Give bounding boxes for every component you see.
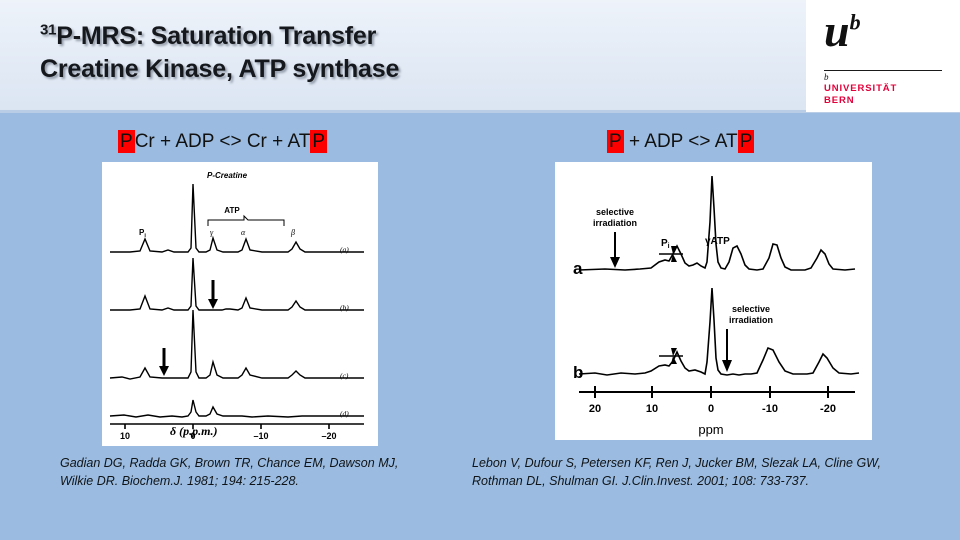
trace-label-c: (c) — [340, 371, 349, 380]
title-line-2: Creatine Kinase, ATP synthase — [40, 55, 399, 83]
equation-creatine-kinase: PCr + ADP <> Cr + ATP — [118, 131, 327, 153]
figure-creatine-kinase-spectra: P-Creatine Pi ATP γ α β (a) (b) (c) — [102, 162, 378, 446]
logo-wordmark-line1: UNIVERSITÄT — [824, 83, 897, 94]
equation-left-highlight-end: P — [310, 130, 327, 153]
figure-atp-synthase-spectra: a selective irradiation Pi γATP b select… — [555, 162, 872, 440]
left-axis: 10 0 –10 –20 — [110, 424, 364, 441]
equation-left-highlight-start: P — [118, 130, 135, 153]
trace-a — [110, 184, 364, 252]
trace-label-d: (d) — [340, 409, 349, 418]
label-pi-right-a: Pi — [661, 238, 670, 250]
annotation-selective-irradiation-a-line2: irradiation — [593, 218, 637, 228]
equation-atp-synthase: P + ADP <> ATP — [607, 131, 754, 153]
equation-left-middle: Cr + ADP <> Cr + AT — [135, 131, 311, 152]
axis-tick-minus10-right: -10 — [762, 403, 778, 415]
axis-tick-20-right: 20 — [589, 403, 601, 415]
trace-label-a: (a) — [340, 245, 349, 254]
right-spectra-svg: a selective irradiation Pi γATP b select… — [555, 162, 872, 440]
logo-wordmark: UNIVERSITÄT BERN — [824, 83, 897, 107]
annotation-selective-irradiation-a-line1: selective — [596, 207, 634, 217]
citation-left: Gadian DG, Radda GK, Brown TR, Chance EM… — [60, 455, 430, 491]
equation-right-highlight-end: P — [738, 130, 755, 153]
logo-rule — [824, 70, 942, 71]
annotation-selective-irradiation-b-line1: selective — [732, 304, 770, 314]
axis-tick-minus20: –20 — [321, 431, 336, 441]
logo-b-superscript: b — [850, 10, 861, 35]
trace-b — [110, 258, 364, 310]
citation-right: Lebon V, Dufour S, Petersen KF, Ren J, J… — [472, 455, 912, 491]
axis-tick-minus10: –10 — [253, 431, 268, 441]
atp-bracket: ATP — [208, 206, 284, 226]
right-axis: 20 10 0 -10 -20 ppm — [579, 386, 855, 437]
arrow-selective-irradiation-b — [722, 329, 732, 372]
axis-tick-minus20-right: -20 — [820, 403, 836, 415]
axis-tick-0-right: 0 — [708, 403, 714, 415]
axis-tick-10-right: 10 — [646, 403, 658, 415]
label-gamma: γ — [210, 228, 214, 237]
trace-c — [110, 310, 364, 379]
university-logo: ub b UNIVERSITÄT BERN — [806, 0, 960, 112]
label-beta: β — [290, 228, 295, 237]
logo-wordmark-line2: BERN — [824, 95, 855, 106]
logo-letter-u: ub — [824, 8, 861, 54]
left-spectra-svg: P-Creatine Pi ATP γ α β (a) (b) (c) — [102, 162, 378, 446]
equation-right-middle: + ADP <> AT — [624, 131, 738, 152]
arrow-saturation-b — [208, 280, 218, 309]
logo-small-b: b — [824, 72, 829, 82]
trace-label-b: (b) — [340, 303, 349, 312]
annotation-selective-irradiation-b-line2: irradiation — [729, 315, 773, 325]
arrow-selective-irradiation-a — [610, 232, 620, 268]
axis-tick-10: 10 — [120, 431, 130, 441]
trace-b-right — [579, 288, 859, 375]
equation-right-highlight-start: P — [607, 130, 624, 153]
trace-d — [110, 400, 364, 417]
title-superscript: 31 — [40, 22, 56, 39]
right-axis-label: ppm — [698, 422, 723, 437]
title-line-1: P-MRS: Saturation Transfer — [56, 22, 376, 50]
label-alpha: α — [241, 228, 246, 237]
page-title: 31P-MRS: Saturation Transfer Creatine Ki… — [40, 20, 640, 86]
label-gatp: γATP — [705, 236, 730, 247]
label-pi-left: Pi — [139, 228, 146, 239]
label-p-creatine: P-Creatine — [207, 171, 248, 180]
trace-label-a-right: a — [573, 259, 583, 278]
marker-pi-b — [659, 348, 683, 364]
trace-label-b-right: b — [573, 363, 583, 382]
label-atp-bracket: ATP — [224, 206, 240, 215]
left-axis-label: δ (p.p.m.) — [170, 424, 217, 439]
logo-u-glyph: u — [824, 5, 850, 56]
arrow-control-c — [159, 348, 169, 376]
